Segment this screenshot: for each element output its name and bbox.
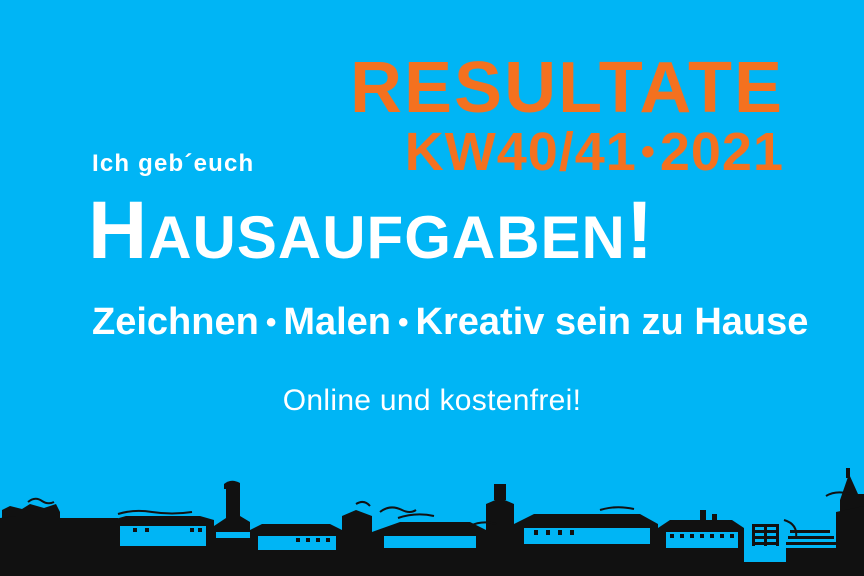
kicker-year: 2021 — [660, 122, 784, 182]
kicker-subtitle: KW40/41•2021 — [350, 125, 784, 179]
kicker-week-label: KW40/41 — [405, 122, 637, 182]
tagline: Online und kostenfrei! — [0, 386, 864, 416]
bullet-separator-icon: • — [259, 306, 284, 339]
page-title: HAUSAUFGABEN! — [88, 190, 654, 272]
cityscape-skyline-illustration — [0, 466, 864, 576]
lead-line: Ich geb´euch — [92, 152, 254, 176]
kicker-title: RESULTATE — [350, 54, 784, 123]
kicker-separator-icon: • — [637, 130, 660, 174]
title-exclamation: ! — [626, 185, 654, 276]
subtitle-item-zeichnen: Zeichnen — [92, 301, 259, 343]
skyline-shapes — [0, 468, 864, 576]
subtitle-line: Zeichnen•Malen•Kreativ sein zu Hause — [92, 303, 808, 341]
kicker-block: RESULTATE KW40/41•2021 — [350, 54, 784, 179]
title-initial: H — [88, 185, 148, 276]
bullet-separator-icon: • — [391, 306, 416, 339]
subtitle-item-malen: Malen — [283, 301, 391, 343]
poster-canvas: RESULTATE KW40/41•2021 Ich geb´euch HAUS… — [0, 0, 864, 576]
title-small-caps: AUSAUFGABEN — [148, 204, 626, 271]
subtitle-item-kreativ: Kreativ sein zu Hause — [416, 301, 809, 343]
